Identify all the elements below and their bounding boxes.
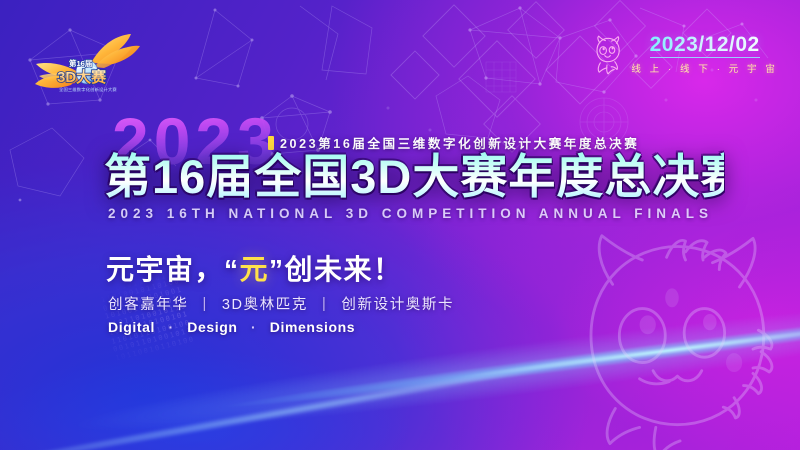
pillar-separator-1: | [203,296,208,312]
poster-text-stack: 2023 2023第16届全国三维数字化创新设计大赛年度总决赛 第16届全国3D… [0,0,800,450]
pillar-en-1: Digital [108,319,155,335]
pillar-en-2: Design [187,319,237,335]
pillar-en-3: Dimensions [270,319,355,335]
pillar-en-separator-1: · [168,319,173,335]
slogan: 元宇宙，“元”创未来！ [106,248,403,288]
pillar-item-3: 创新设计奥斯卡 [341,293,454,314]
pillar-item-1: 创客嘉年华 [108,293,189,314]
event-poster: 10110100101001 01001011010110 1101001011… [0,0,800,450]
slogan-part-before: 元宇宙，“ [106,254,240,285]
pillars-list: 创客嘉年华 | 3D奥林匹克 | 创新设计奥斯卡 [108,293,454,314]
slogan-highlight: 元 [240,254,270,285]
pillar-separator-2: | [322,296,327,312]
pillar-item-2: 3D奥林匹克 [222,293,308,314]
page-title-english: 2023 16TH NATIONAL 3D COMPETITION ANNUAL… [108,206,718,221]
yellow-bar-icon [268,136,274,150]
pillars-list-english: Digital · Design · Dimensions [108,319,355,335]
page-title: 第16届全国3D大赛年度总决赛 [104,152,724,202]
slogan-part-after: ”创未来！ [269,254,403,285]
pillar-en-separator-2: · [251,319,256,335]
